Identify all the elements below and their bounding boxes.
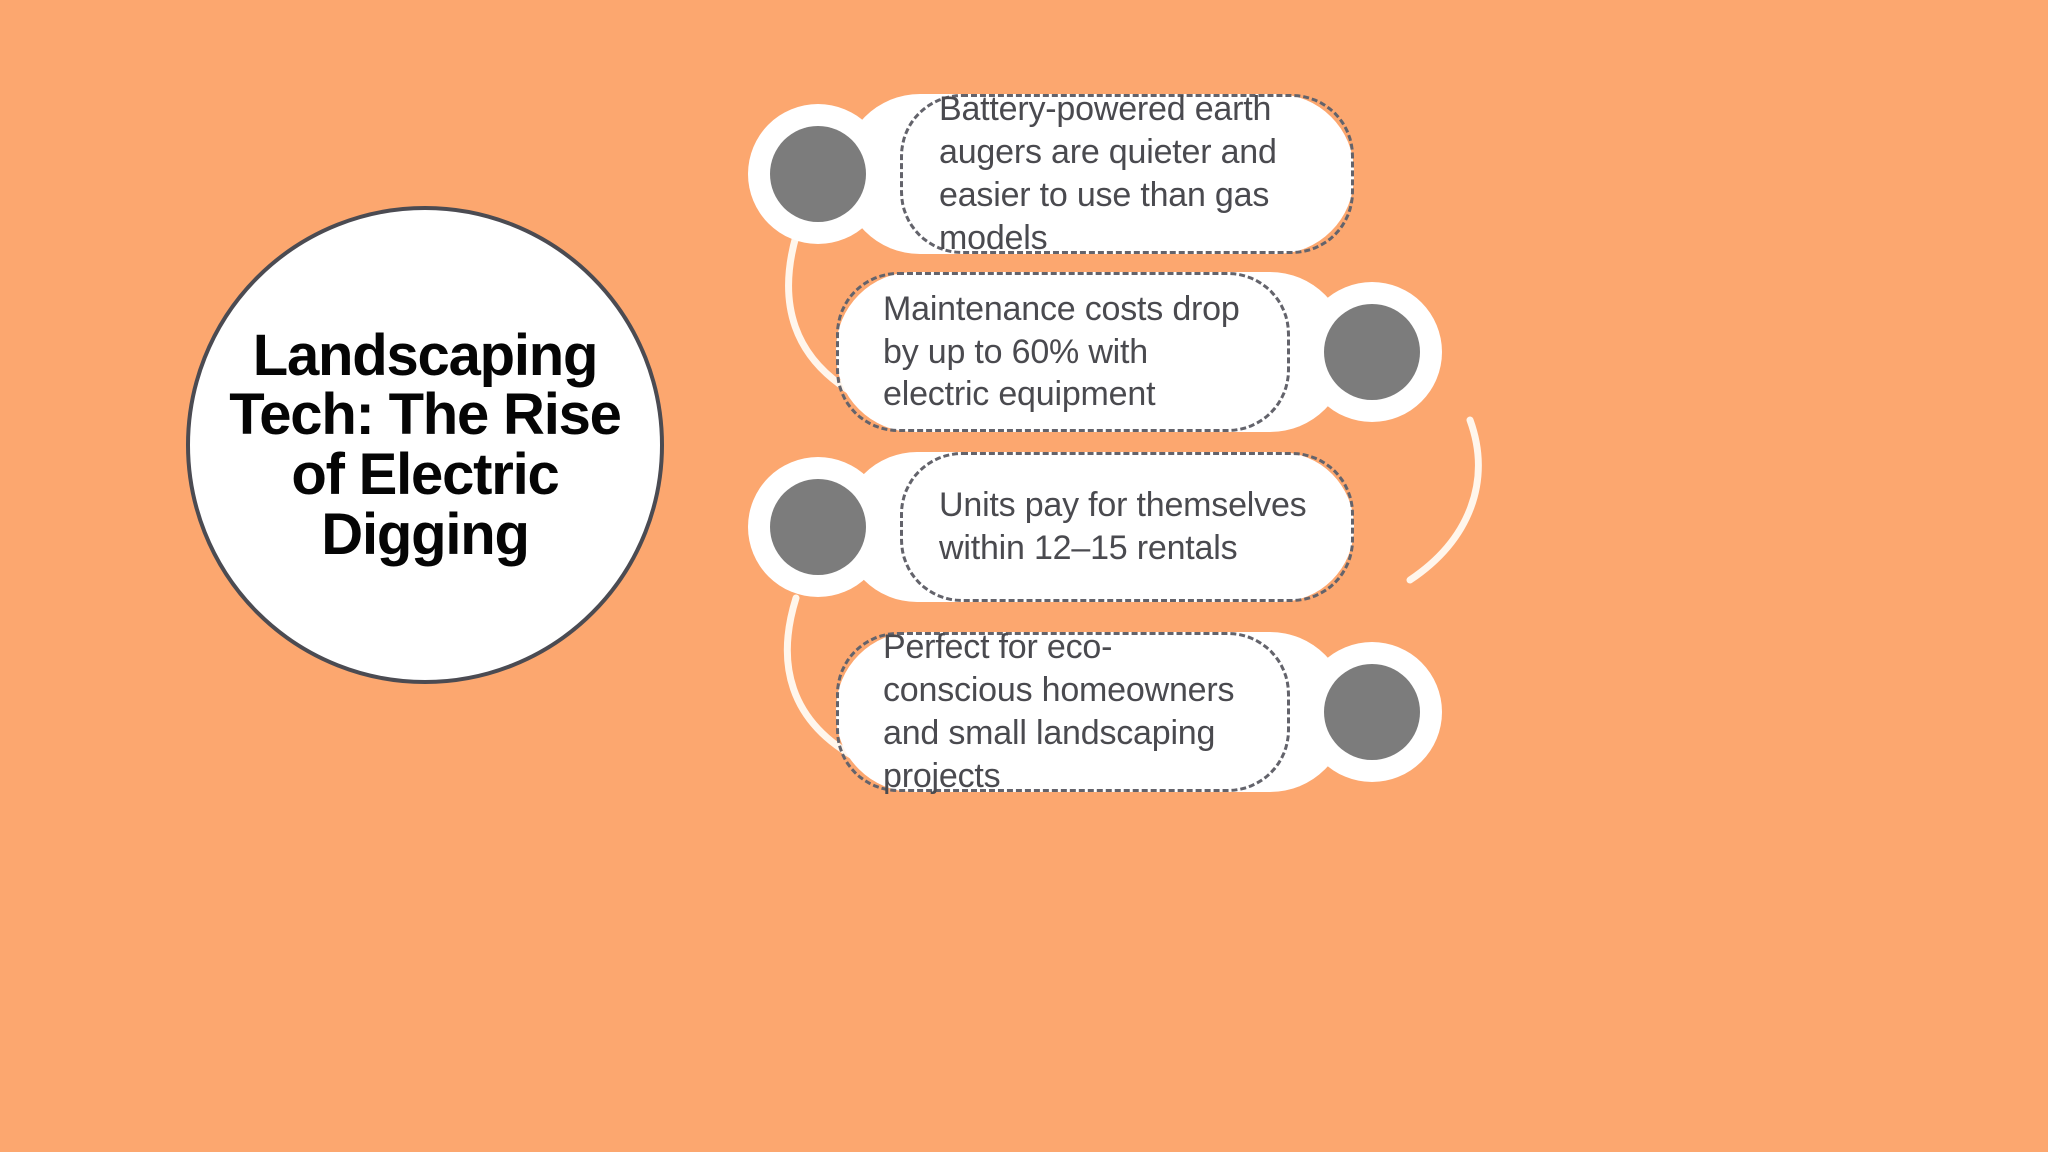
bullet-dot-icon: [770, 479, 866, 575]
item-text: Perfect for eco-conscious homeowners and…: [883, 626, 1251, 797]
bullet-circle-icon: [748, 104, 888, 244]
item-card-dashed-frame: Units pay for themselves within 12–15 re…: [900, 452, 1354, 602]
bullet-dot-icon: [1324, 664, 1420, 760]
connector-2-to-3: [1410, 420, 1478, 580]
item-text: Units pay for themselves within 12–15 re…: [939, 484, 1307, 570]
page-title: Landscaping Tech: The Rise of Electric D…: [225, 326, 625, 565]
item-card[interactable]: Battery-powered earth augers are quieter…: [842, 94, 1354, 254]
item-card[interactable]: Perfect for eco-conscious homeowners and…: [836, 632, 1348, 792]
item-card[interactable]: Units pay for themselves within 12–15 re…: [842, 452, 1354, 602]
infographic-canvas: Landscaping Tech: The Rise of Electric D…: [0, 0, 2048, 1152]
item-row[interactable]: Battery-powered earth augers are quieter…: [748, 94, 1354, 254]
item-card-dashed-frame: Perfect for eco-conscious homeowners and…: [836, 632, 1290, 792]
item-text: Maintenance costs drop by up to 60% with…: [883, 288, 1251, 416]
bullet-circle-icon: [1302, 642, 1442, 782]
bullet-dot-icon: [1324, 304, 1420, 400]
bullet-dot-icon: [770, 126, 866, 222]
title-circle: Landscaping Tech: The Rise of Electric D…: [186, 206, 664, 684]
item-row[interactable]: Units pay for themselves within 12–15 re…: [748, 452, 1354, 602]
item-row[interactable]: Perfect for eco-conscious homeowners and…: [836, 632, 1442, 792]
item-text: Battery-powered earth augers are quieter…: [939, 88, 1307, 259]
bullet-circle-icon: [1302, 282, 1442, 422]
item-card-dashed-frame: Maintenance costs drop by up to 60% with…: [836, 272, 1290, 432]
item-card-dashed-frame: Battery-powered earth augers are quieter…: [900, 94, 1354, 254]
item-card[interactable]: Maintenance costs drop by up to 60% with…: [836, 272, 1348, 432]
item-row[interactable]: Maintenance costs drop by up to 60% with…: [836, 272, 1442, 432]
bullet-circle-icon: [748, 457, 888, 597]
